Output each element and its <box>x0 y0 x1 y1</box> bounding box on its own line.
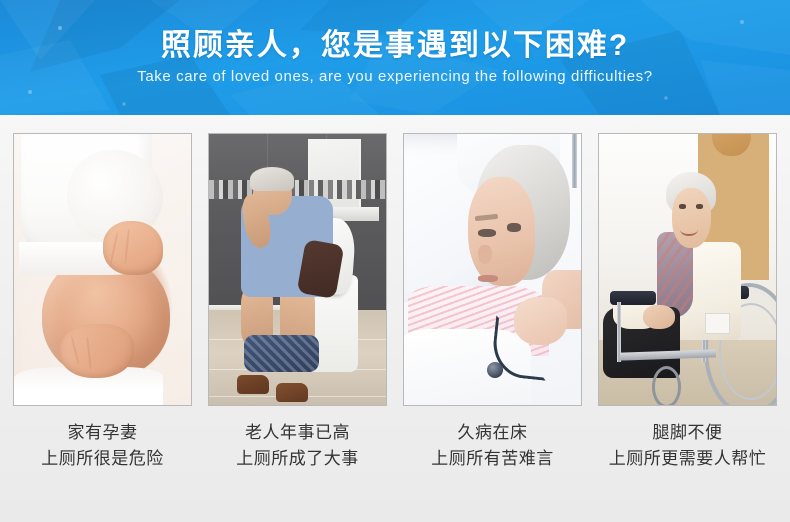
caption-line-1: 腿脚不便 <box>609 420 767 446</box>
caption-line-2: 上厕所有苦难言 <box>431 446 554 472</box>
iv-pole <box>572 134 577 188</box>
right-shoe-shape <box>276 383 308 402</box>
panel-caption: 老人年事已高 上厕所成了大事 <box>236 420 359 472</box>
folded-hands-shape <box>643 305 675 329</box>
panel-caption: 家有孕妻 上厕所很是危险 <box>41 420 164 472</box>
photo-woman-in-wheelchair[interactable] <box>598 133 777 406</box>
panel-elderly-man[interactable]: 老人年事已高 上厕所成了大事 <box>207 133 388 472</box>
banner-header: 照顾亲人，您是事遇到以下困难? Take care of loved ones,… <box>0 0 790 115</box>
promo-banner-page: 照顾亲人，您是事遇到以下困难? Take care of loved ones,… <box>0 0 790 522</box>
panels-section: 家有孕妻 上厕所很是危险 <box>0 115 790 522</box>
panel-caption: 腿脚不便 上厕所更需要人帮忙 <box>609 420 767 472</box>
lowered-jeans-shape <box>244 335 318 373</box>
wheelchair-caster-wheel <box>652 366 681 406</box>
left-eye-shape <box>478 229 496 237</box>
panels-row: 家有孕妻 上厕所很是危险 <box>12 133 778 472</box>
lower-hand-shape <box>60 324 134 378</box>
photo-pregnant-woman[interactable] <box>13 133 192 406</box>
caption-line-2: 上厕所更需要人帮忙 <box>609 446 767 472</box>
right-eye-shape <box>507 223 521 231</box>
panel-bedridden-patient[interactable]: 久病在床 上厕所有苦难言 <box>402 133 583 472</box>
panel-pregnant-wife[interactable]: 家有孕妻 上厕所很是危险 <box>12 133 193 472</box>
caption-line-1: 老人年事已高 <box>236 420 359 446</box>
page-title-chinese: 照顾亲人，您是事遇到以下困难? <box>161 30 629 62</box>
caption-line-1: 家有孕妻 <box>41 420 164 446</box>
wheelchair-label-tag <box>705 313 730 334</box>
stethoscope-chestpiece <box>487 362 503 378</box>
panel-wheelchair-user[interactable]: 腿脚不便 上厕所更需要人帮忙 <box>597 133 778 472</box>
left-eye-shape <box>679 204 686 208</box>
right-eye-shape <box>696 204 703 208</box>
upper-hand-shape <box>103 221 163 275</box>
panel-caption: 久病在床 上厕所有苦难言 <box>431 420 554 472</box>
face-shape <box>672 188 711 248</box>
caption-line-2: 上厕所很是危险 <box>41 446 164 472</box>
mouth-shape <box>478 275 497 282</box>
caption-line-2: 上厕所成了大事 <box>236 446 359 472</box>
page-subtitle-english: Take care of loved ones, are you experie… <box>137 69 652 86</box>
gray-hair-shape <box>250 167 294 191</box>
caption-line-1: 久病在床 <box>431 420 554 446</box>
photo-woman-in-bed[interactable] <box>403 133 582 406</box>
left-shoe-shape <box>237 375 269 394</box>
photo-elderly-man-toilet[interactable] <box>208 133 387 406</box>
